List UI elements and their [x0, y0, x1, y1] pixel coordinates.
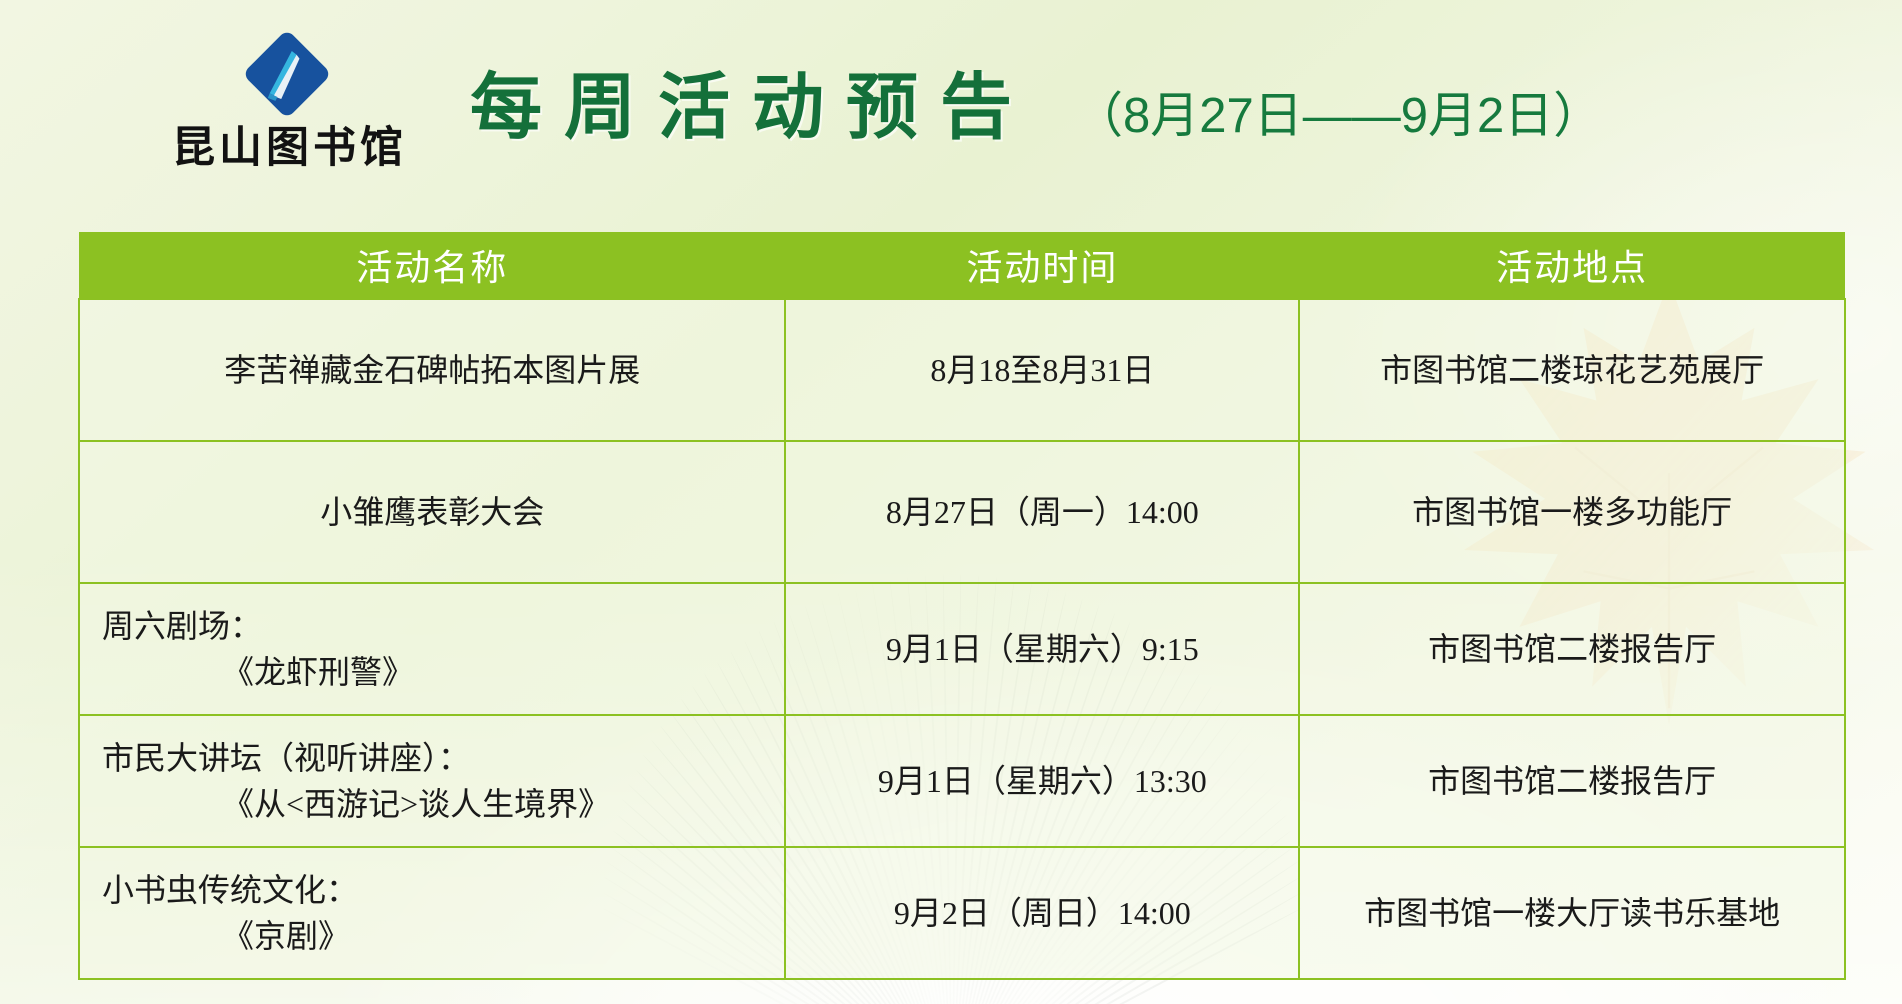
column-header-activity-time: 活动时间: [785, 232, 1299, 299]
table-header-row: 活动名称 活动时间 活动地点: [79, 232, 1845, 299]
cell-activity-name: 周六剧场：《龙虾刑警》: [79, 583, 785, 715]
table-row: 市民大讲坛（视听讲座）：《从<西游记>谈人生境界》9月1日（星期六）13:30市…: [79, 715, 1845, 847]
table-row: 周六剧场：《龙虾刑警》9月1日（星期六）9:15市图书馆二楼报告厅: [79, 583, 1845, 715]
cell-activity-place: 市图书馆一楼大厅读书乐基地: [1299, 847, 1845, 979]
page-title: 每周活动预告: [470, 72, 1034, 144]
library-brand-name: 昆山图书馆: [172, 126, 402, 171]
cell-activity-place: 市图书馆一楼多功能厅: [1299, 441, 1845, 583]
column-header-activity-name: 活动名称: [79, 232, 785, 299]
activity-name-line-2: 《京剧》: [102, 913, 762, 959]
schedule-table-body: 李苦禅藏金石碑帖拓本图片展8月18至8月31日市图书馆二楼琼花艺苑展厅小雏鹰表彰…: [79, 299, 1845, 979]
cell-activity-place: 市图书馆二楼琼花艺苑展厅: [1299, 299, 1845, 441]
cell-activity-name: 市民大讲坛（视听讲座）：《从<西游记>谈人生境界》: [79, 715, 785, 847]
headline-block: 每周活动预告 （8月27日——9月2日）: [470, 72, 1602, 144]
cell-activity-time: 8月27日（周一）14:00: [785, 441, 1299, 583]
cell-activity-time: 8月18至8月31日: [785, 299, 1299, 441]
cell-activity-time: 9月1日（星期六）9:15: [785, 583, 1299, 715]
weekly-activity-poster: 昆山图书馆 每周活动预告 （8月27日——9月2日） 活动名称 活动时间 活动地…: [0, 0, 1902, 1004]
schedule-table: 活动名称 活动时间 活动地点 李苦禅藏金石碑帖拓本图片展8月18至8月31日市图…: [78, 232, 1846, 980]
activity-name-line-1: 小书虫传统文化：: [102, 867, 762, 913]
cell-activity-time: 9月1日（星期六）13:30: [785, 715, 1299, 847]
table-row: 小雏鹰表彰大会8月27日（周一）14:00市图书馆一楼多功能厅: [79, 441, 1845, 583]
cell-activity-place: 市图书馆二楼报告厅: [1299, 715, 1845, 847]
activity-name-line-2: 《龙虾刑警》: [102, 649, 762, 695]
cell-activity-name: 李苦禅藏金石碑帖拓本图片展: [79, 299, 785, 441]
column-header-activity-place: 活动地点: [1299, 232, 1845, 299]
cell-activity-name: 小书虫传统文化：《京剧》: [79, 847, 785, 979]
activity-name-line-1: 市民大讲坛（视听讲座）：: [102, 735, 762, 781]
date-range: （8月27日——9月2日）: [1074, 92, 1602, 141]
table-row: 小书虫传统文化：《京剧》9月2日（周日）14:00市图书馆一楼大厅读书乐基地: [79, 847, 1845, 979]
table-row: 李苦禅藏金石碑帖拓本图片展8月18至8月31日市图书馆二楼琼花艺苑展厅: [79, 299, 1845, 441]
library-brand: 昆山图书馆: [172, 26, 402, 171]
poster-header: 昆山图书馆 每周活动预告 （8月27日——9月2日）: [0, 0, 1902, 230]
activity-name-line-1: 周六剧场：: [102, 603, 762, 649]
library-diamond-logo-icon: [239, 26, 335, 122]
activity-name-line-2: 《从<西游记>谈人生境界》: [102, 781, 762, 827]
cell-activity-name: 小雏鹰表彰大会: [79, 441, 785, 583]
schedule-table-wrapper: 活动名称 活动时间 活动地点 李苦禅藏金石碑帖拓本图片展8月18至8月31日市图…: [78, 232, 1846, 980]
cell-activity-place: 市图书馆二楼报告厅: [1299, 583, 1845, 715]
cell-activity-time: 9月2日（周日）14:00: [785, 847, 1299, 979]
schedule-table-head: 活动名称 活动时间 活动地点: [79, 232, 1845, 299]
